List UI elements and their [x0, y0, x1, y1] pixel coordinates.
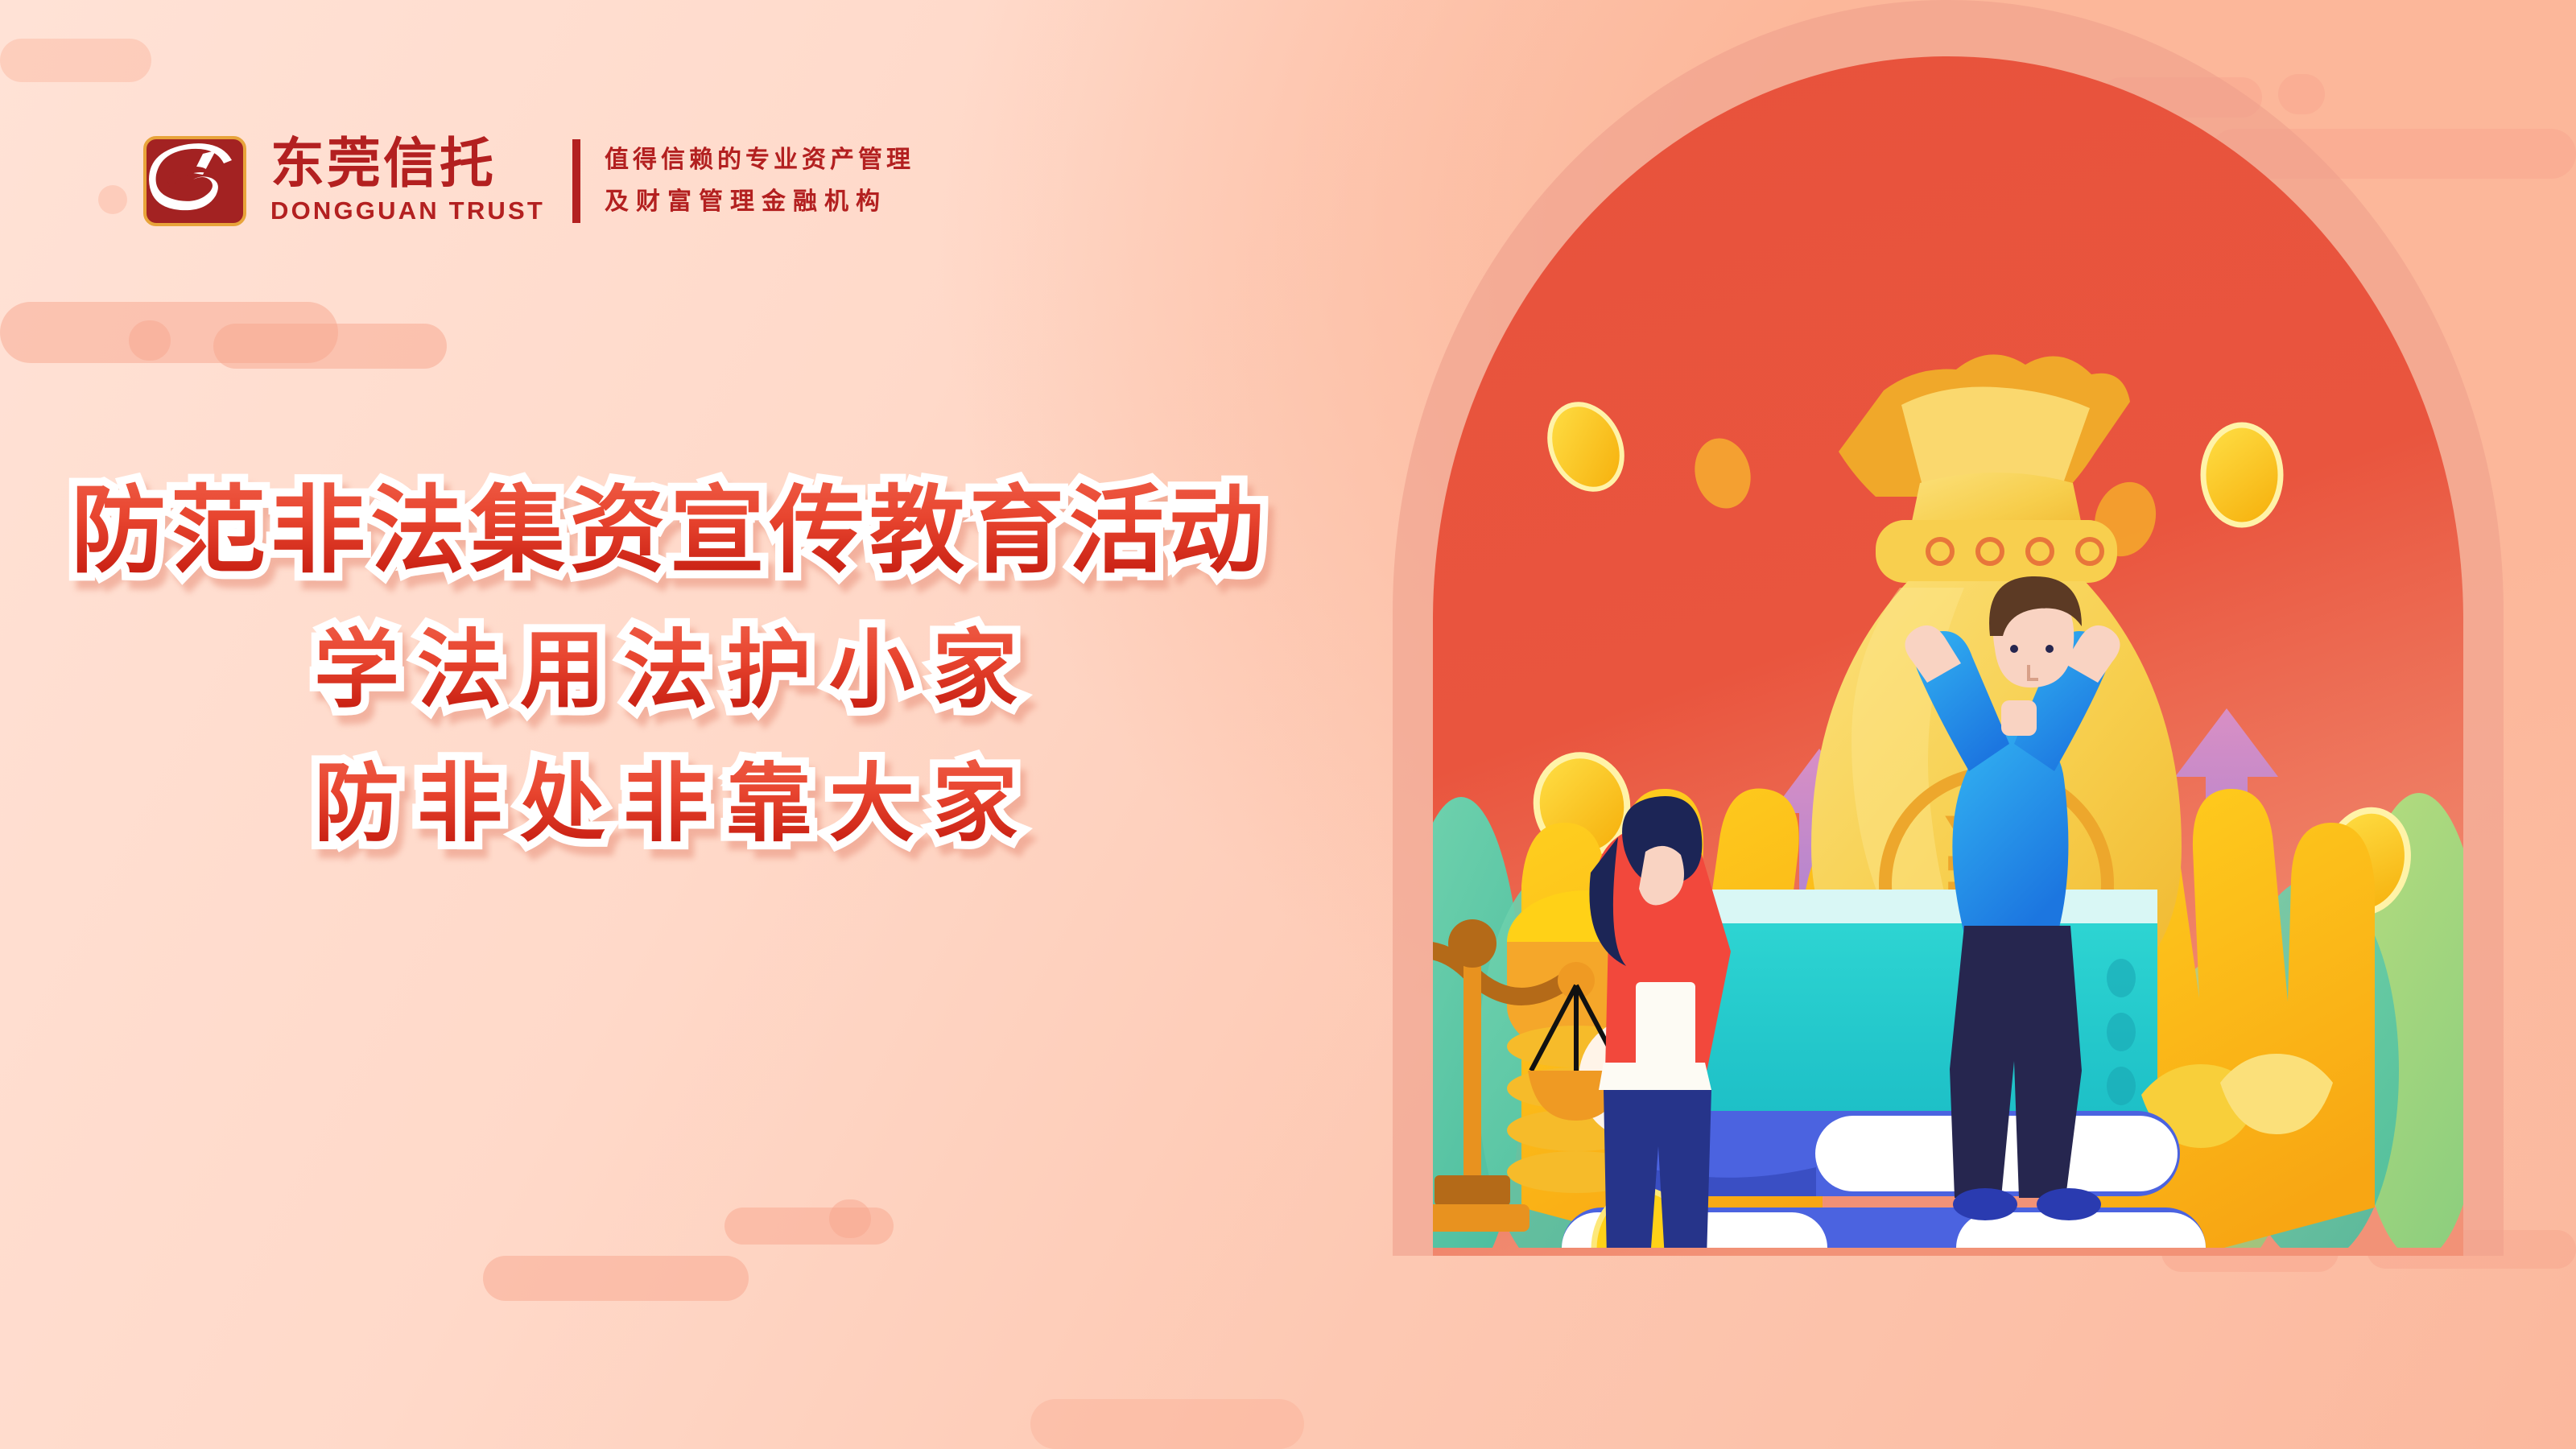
- teal-podium: [1707, 890, 2157, 1131]
- brand-name-cn: 东莞信托: [270, 137, 545, 191]
- headline-line-1-text: 防范非法集资宣传教育活动: [71, 475, 1269, 586]
- decor-pill-10: [829, 1199, 871, 1238]
- headline-line-2: 学法用法护小家 学法用法护小家 学法用法护小家: [314, 628, 1368, 713]
- decor-pill-4: [98, 185, 127, 214]
- headline-line-3: 防非处非靠大家 防非处非靠大家 防非处非靠大家: [314, 762, 1368, 847]
- decor-pill-0: [0, 39, 151, 82]
- brand-header: 东莞信托 DONGGUAN TRUST 值得信赖的专业资产管理 及财富管理金融机…: [143, 125, 914, 237]
- slogan-line-1: 值得信赖的专业资产管理: [605, 148, 914, 172]
- headline-line-3-text: 防非处非靠大家: [314, 754, 1035, 853]
- brand-slogan: 值得信赖的专业资产管理 及财富管理金融机构: [605, 148, 914, 214]
- anti-illegal-fundraising-illustration: ¥ ⊙: [1320, 0, 2576, 1449]
- campaign-headline: 防范非法集资宣传教育活动 防范非法集资宣传教育活动 防范非法集资宣传教育活动 学…: [0, 483, 1368, 847]
- poster-canvas: ¥ ⊙: [0, 0, 2576, 1449]
- header-divider: [572, 139, 580, 223]
- slogan-line-2: 及财富管理金融机构: [605, 190, 914, 214]
- headline-line-1: 防范非法集资宣传教育活动 防范非法集资宣传教育活动 防范非法集资宣传教育活动: [71, 483, 1368, 578]
- decor-pill-9: [483, 1256, 749, 1301]
- decor-pill-14: [1030, 1399, 1304, 1449]
- decor-pill-2: [129, 320, 171, 361]
- ground-mound: [1546, 1260, 2149, 1332]
- decor-pill-3: [213, 324, 447, 369]
- brand-name-en: DONGGUAN TRUST: [270, 196, 545, 225]
- headline-line-2-text: 学法用法护小家: [314, 621, 1035, 720]
- dongguan-trust-logo-icon: [143, 136, 246, 226]
- brand-wordmark: 东莞信托 DONGGUAN TRUST: [270, 137, 545, 225]
